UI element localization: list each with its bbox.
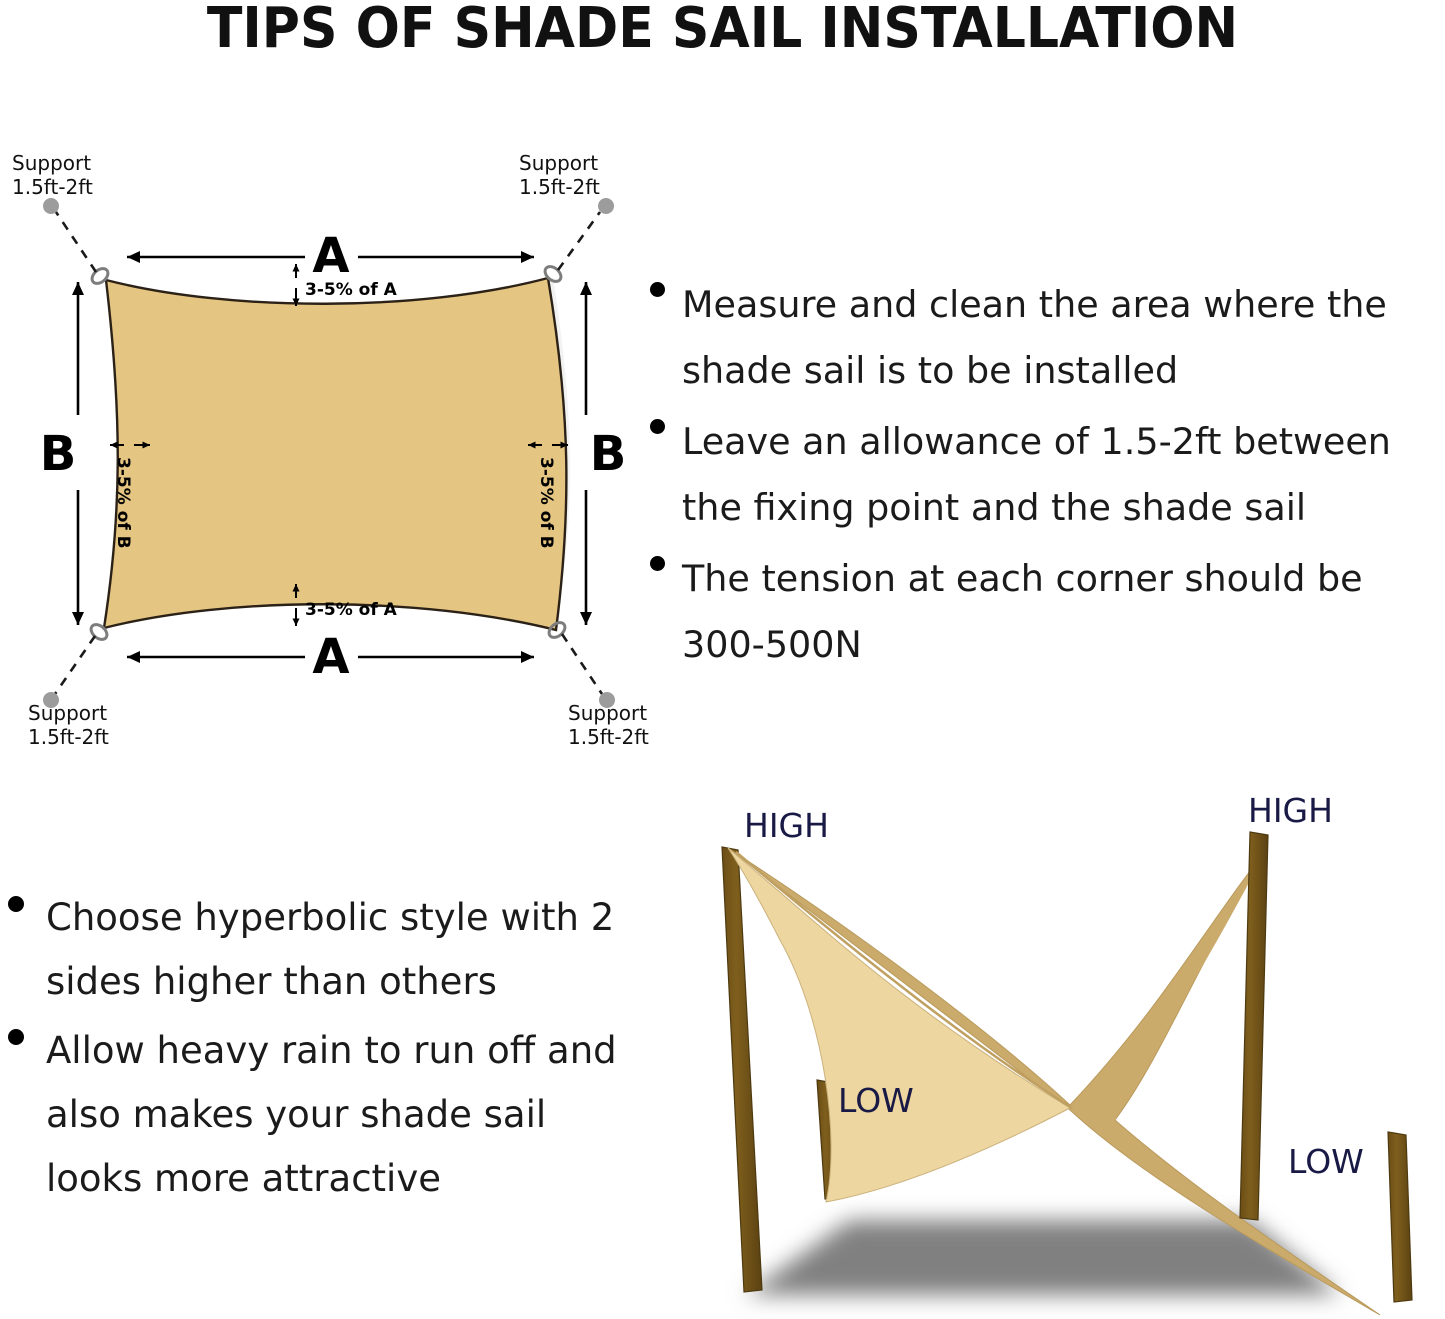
support-label-text-2: 1.5ft-2ft: [28, 725, 109, 749]
sail-shape: [104, 278, 570, 630]
tie-line-bottom-right: [562, 634, 602, 694]
support-label-text-1: Support: [568, 701, 647, 725]
tip-text: Choose hyperbolic style with 2 sides hig…: [46, 886, 625, 1014]
installation-tips-list: Measure and clean the area where the sha…: [640, 272, 1445, 683]
label-low-right: LOW: [1288, 1142, 1364, 1181]
list-item: Allow heavy rain to run off and also mak…: [0, 1019, 625, 1211]
support-label-bottom-left: Support 1.5ft-2ft: [28, 701, 109, 749]
support-label-text-1: Support: [12, 151, 91, 175]
page-title: TIPS OF SHADE SAIL INSTALLATION: [51, 0, 1395, 58]
support-label-text-2: 1.5ft-2ft: [12, 175, 93, 199]
list-item: The tension at each corner should be 300…: [640, 546, 1445, 678]
label-high-right: HIGH: [1248, 791, 1333, 830]
support-label-text-1: Support: [519, 151, 598, 175]
support-dot-top-right: [598, 198, 614, 214]
curvature-label-top: 3-5% of A: [305, 280, 398, 300]
label-low-left: LOW: [838, 1081, 914, 1120]
tie-line-top-right: [558, 212, 600, 270]
hyperbolic-tips-list: Choose hyperbolic style with 2 sides hig…: [0, 886, 625, 1216]
support-label-text-2: 1.5ft-2ft: [519, 175, 600, 199]
list-item: Choose hyperbolic style with 2 sides hig…: [0, 886, 625, 1014]
curvature-label-bottom: 3-5% of A: [305, 600, 398, 620]
post-body: [722, 847, 762, 1292]
list-item: Measure and clean the area where the sha…: [640, 272, 1445, 404]
tip-text: Leave an allowance of 1.5-2ft between th…: [682, 409, 1445, 541]
tip-text: The tension at each corner should be 300…: [682, 546, 1445, 678]
post-high-left: [722, 847, 762, 1292]
sail-fabric: [104, 278, 566, 630]
post-low-right: [1388, 1132, 1412, 1302]
tip-text: Measure and clean the area where the sha…: [682, 272, 1445, 404]
rect-sail-diagram: Support 1.5ft-2ft Support 1.5ft-2ft Supp…: [0, 160, 660, 740]
dimension-label-B-left: B: [40, 426, 77, 482]
dimension-label-A-bottom: A: [312, 629, 349, 685]
tie-line-top-left: [56, 212, 96, 272]
tip-text: Allow heavy rain to run off and also mak…: [46, 1019, 625, 1211]
curvature-label-left: 3-5% of B: [113, 457, 133, 549]
dimension-label-A-top: A: [312, 228, 349, 284]
support-label-text-2: 1.5ft-2ft: [568, 725, 649, 749]
post-body: [1388, 1132, 1412, 1302]
dimension-label-B-right: B: [590, 426, 627, 482]
list-item: Leave an allowance of 1.5-2ft between th…: [640, 409, 1445, 541]
support-label-top-left: Support 1.5ft-2ft: [12, 151, 93, 199]
sail-surface-front: [728, 848, 1070, 1202]
support-label-text-1: Support: [28, 701, 107, 725]
support-label-top-right: Support 1.5ft-2ft: [519, 151, 600, 199]
label-high-left: HIGH: [744, 806, 829, 845]
page-root: TIPS OF SHADE SAIL INSTALLATION: [0, 0, 1445, 1319]
support-dot-top-left: [43, 198, 59, 214]
curvature-label-right: 3-5% of B: [536, 457, 556, 549]
hyperbolic-sail-diagram: HIGH HIGH LOW LOW: [640, 790, 1445, 1319]
tie-line-bottom-left: [55, 636, 95, 694]
support-label-bottom-right: Support 1.5ft-2ft: [568, 701, 649, 749]
